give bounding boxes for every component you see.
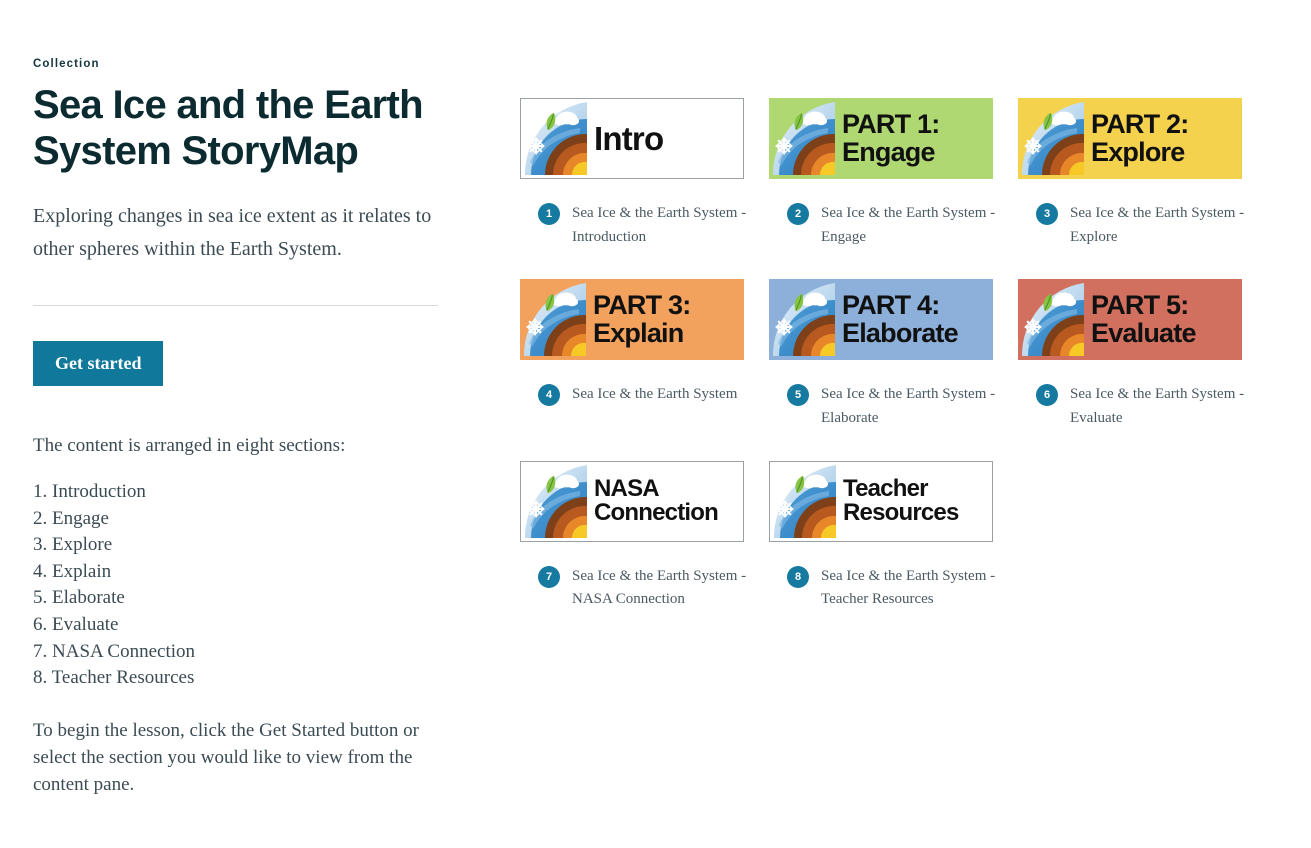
card-grid: Intro1Sea Ice & the Earth System - Intro… [520,98,1311,642]
card-caption-text: Sea Ice & the Earth System - Teacher Res… [809,565,1011,612]
card-number-badge: 6 [1036,384,1058,406]
earth-system-logo-icon [525,465,587,538]
card-thumbnail-label: PART 2: Explore [1084,111,1188,166]
collection-cards-pane: Intro1Sea Ice & the Earth System - Intro… [520,0,1311,848]
section-list-item: 7. NASA Connection [33,639,520,666]
collection-card: PART 5: Evaluate6Sea Ice & the Earth Sys… [1018,279,1267,460]
closing-instructions-text: To begin the lesson, click the Get Start… [33,718,433,799]
collection-summary: Exploring changes in sea ice extent as i… [33,200,433,265]
earth-system-logo-icon [524,283,586,356]
card-caption-text: Sea Ice & the Earth System - Elaborate [809,383,1011,430]
card-thumbnail-label: PART 5: Evaluate [1084,292,1196,347]
card-caption-text: Sea Ice & the Earth System - Introductio… [560,202,762,249]
section-list-item: 3. Explore [33,532,520,559]
card-thumbnail-label: PART 4: Elaborate [835,292,958,347]
card-thumbnail-label: PART 1: Engage [835,111,939,166]
card-caption-text: Sea Ice & the Earth System [560,383,737,407]
card-caption-link[interactable]: 1Sea Ice & the Earth System - Introducti… [538,202,762,249]
card-caption-link[interactable]: 5Sea Ice & the Earth System - Elaborate [787,383,1011,430]
section-divider [33,305,438,306]
content-intro-text: The content is arranged in eight section… [33,433,433,460]
earth-system-logo-icon [773,283,835,356]
card-thumbnail-1[interactable]: Intro [520,98,744,179]
card-number-badge: 7 [538,566,560,588]
card-number-badge: 4 [538,384,560,406]
section-list-item: 6. Evaluate [33,612,520,639]
earth-system-logo-icon [1022,102,1084,175]
card-caption-link[interactable]: 2Sea Ice & the Earth System - Engage [787,202,1011,249]
collection-card: PART 3: Explain4Sea Ice & the Earth Syst… [520,279,769,460]
collection-page: Collection Sea Ice and the Earth System … [0,0,1311,848]
earth-system-logo-icon [774,465,836,538]
card-thumbnail-5[interactable]: PART 4: Elaborate [769,279,993,360]
collection-card: PART 4: Elaborate5Sea Ice & the Earth Sy… [769,279,1018,460]
card-thumbnail-3[interactable]: PART 2: Explore [1018,98,1242,179]
collection-eyebrow-label: Collection [33,58,520,70]
card-thumbnail-6[interactable]: PART 5: Evaluate [1018,279,1242,360]
collection-info-pane: Collection Sea Ice and the Earth System … [0,0,520,848]
page-title: Sea Ice and the Earth System StoryMap [33,83,453,174]
card-number-badge: 5 [787,384,809,406]
card-thumbnail-8[interactable]: Teacher Resources [769,461,993,542]
collection-card: NASA Connection7Sea Ice & the Earth Syst… [520,461,769,642]
earth-system-logo-icon [773,102,835,175]
section-list-item: 8. Teacher Resources [33,665,520,692]
card-thumbnail-2[interactable]: PART 1: Engage [769,98,993,179]
card-caption-link[interactable]: 3Sea Ice & the Earth System - Explore [1036,202,1260,249]
card-thumbnail-label: PART 3: Explain [586,292,690,347]
card-number-badge: 3 [1036,203,1058,225]
card-caption-text: Sea Ice & the Earth System - Evaluate [1058,383,1260,430]
section-list-item: 2. Engage [33,506,520,533]
card-caption-link[interactable]: 7Sea Ice & the Earth System - NASA Conne… [538,565,762,612]
earth-system-logo-icon [1022,283,1084,356]
collection-card: PART 2: Explore3Sea Ice & the Earth Syst… [1018,98,1267,279]
card-thumbnail-label: Intro [587,122,663,156]
card-caption-text: Sea Ice & the Earth System - Engage [809,202,1011,249]
card-number-badge: 1 [538,203,560,225]
card-thumbnail-7[interactable]: NASA Connection [520,461,744,542]
card-caption-link[interactable]: 6Sea Ice & the Earth System - Evaluate [1036,383,1260,430]
card-caption-text: Sea Ice & the Earth System - NASA Connec… [560,565,762,612]
earth-system-logo-icon [525,102,587,175]
card-thumbnail-4[interactable]: PART 3: Explain [520,279,744,360]
section-list-item: 4. Explain [33,559,520,586]
section-list: 1. Introduction2. Engage3. Explore4. Exp… [33,479,520,692]
card-number-badge: 8 [787,566,809,588]
card-thumbnail-label: NASA Connection [587,477,718,526]
collection-card: PART 1: Engage2Sea Ice & the Earth Syste… [769,98,1018,279]
card-caption-link[interactable]: 8Sea Ice & the Earth System - Teacher Re… [787,565,1011,612]
card-thumbnail-label: Teacher Resources [836,477,959,526]
section-list-item: 5. Elaborate [33,585,520,612]
collection-card: Teacher Resources8Sea Ice & the Earth Sy… [769,461,1018,642]
section-list-item: 1. Introduction [33,479,520,506]
get-started-button[interactable]: Get started [33,341,163,386]
card-caption-text: Sea Ice & the Earth System - Explore [1058,202,1260,249]
collection-card: Intro1Sea Ice & the Earth System - Intro… [520,98,769,279]
card-number-badge: 2 [787,203,809,225]
card-caption-link[interactable]: 4Sea Ice & the Earth System [538,383,762,407]
